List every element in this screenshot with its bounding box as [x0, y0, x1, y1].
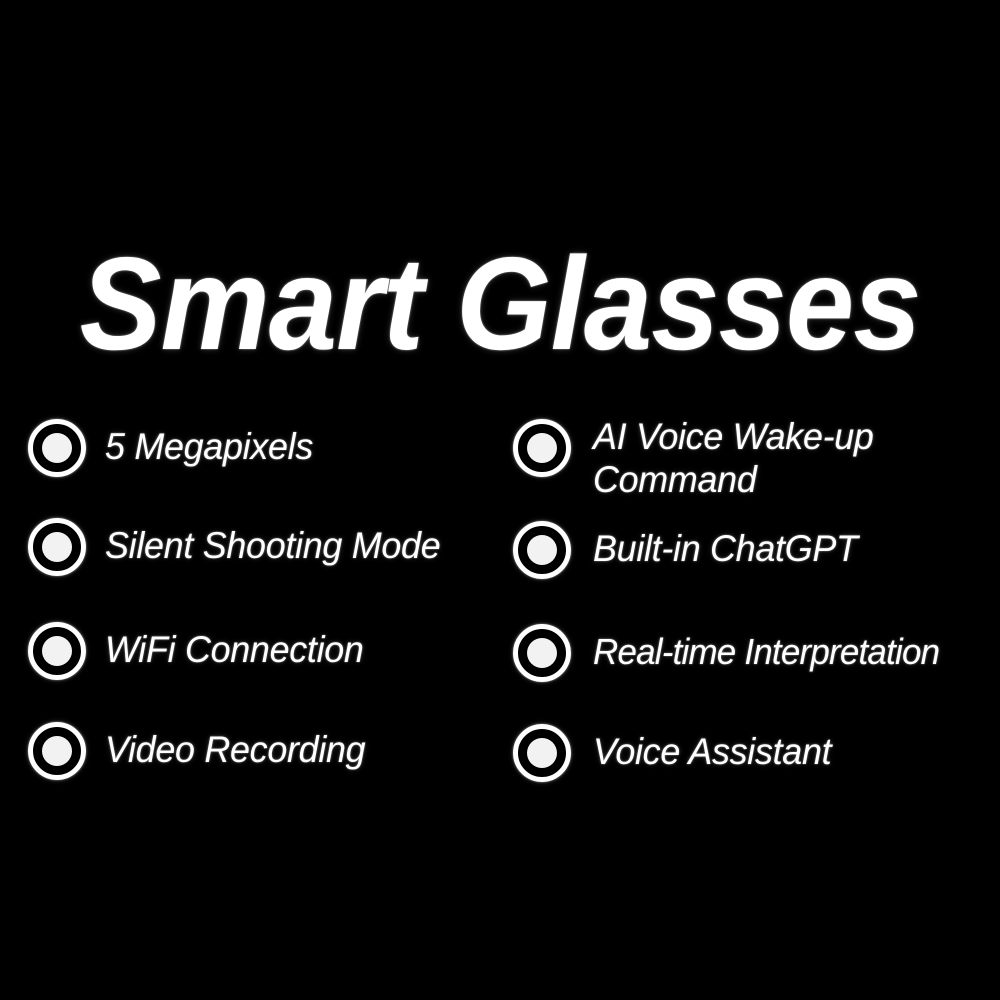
product-feature-poster: Smart Glasses 5 Megapixels Silent Shooti…	[0, 0, 1000, 1000]
feature-column-right: AI Voice Wake-up Command Built-in ChatGP…	[505, 404, 1000, 804]
feature-label-silent-shooting: Silent Shooting Mode	[105, 524, 440, 567]
filled-circle-ring-icon	[513, 724, 571, 782]
feature-label-voice-assistant: Voice Assistant	[593, 730, 831, 773]
feature-label-chatgpt: Built-in ChatGPT	[593, 527, 858, 570]
feature-column-left: 5 Megapixels Silent Shooting Mode WiFi C…	[20, 404, 500, 804]
feature-label-wifi: WiFi Connection	[105, 628, 364, 671]
filled-circle-ring-icon	[28, 622, 86, 680]
filled-circle-ring-icon	[513, 419, 571, 477]
feature-label-video-recording: Video Recording	[105, 728, 365, 771]
feature-list: 5 Megapixels Silent Shooting Mode WiFi C…	[0, 404, 1000, 804]
filled-circle-ring-icon	[28, 419, 86, 477]
feature-label-megapixels: 5 Megapixels	[105, 425, 313, 468]
filled-circle-ring-icon	[513, 521, 571, 579]
filled-circle-ring-icon	[513, 624, 571, 682]
page-title: Smart Glasses	[80, 238, 921, 370]
filled-circle-ring-icon	[28, 518, 86, 576]
feature-label-interpretation: Real-time Interpretation	[593, 630, 939, 673]
filled-circle-ring-icon	[28, 722, 86, 780]
feature-label-ai-voice: AI Voice Wake-up Command	[593, 415, 874, 501]
